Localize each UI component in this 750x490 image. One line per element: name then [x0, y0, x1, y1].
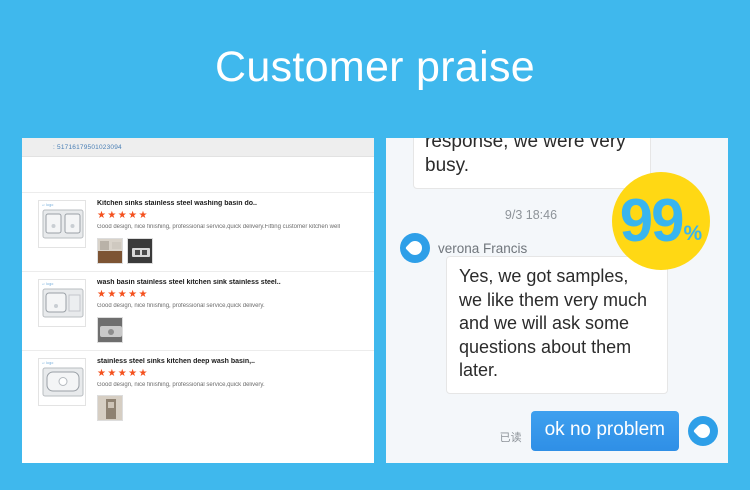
supplier-logo-icon: ▱ logo — [42, 361, 53, 365]
review-photo[interactable] — [97, 238, 123, 264]
sink-photo-icon — [98, 318, 123, 343]
star-rating: ★★★★★ — [97, 290, 362, 300]
message-bubble-clipped: response, we were very busy. — [413, 138, 651, 189]
single-sink-icon — [42, 288, 84, 318]
review-photo[interactable] — [97, 317, 123, 343]
review-text: Good design, nice finishing, professiona… — [97, 224, 362, 232]
reply-row: 已读 ok no problem — [500, 411, 718, 451]
sender-name: verona Francis — [438, 241, 527, 256]
review-text: Good design, nice finishing, professiona… — [97, 382, 362, 390]
badge-number: 99 — [620, 191, 683, 251]
review-title[interactable]: stainless steel sinks kitchen deep wash … — [97, 358, 362, 365]
review-photo-strip — [97, 238, 362, 264]
page-title: Customer praise — [0, 44, 750, 91]
star-rating: ★★★★★ — [97, 211, 362, 221]
review-photo-strip — [97, 317, 362, 343]
kitchen-photo-icon — [98, 239, 123, 264]
supplier-logo-icon: ▱ logo — [42, 282, 53, 286]
product-thumbnail[interactable]: ▱ logo — [38, 200, 86, 248]
badge-percent-sign: % — [684, 222, 703, 246]
review-title[interactable]: wash basin stainless steel kitchen sink … — [97, 279, 362, 286]
read-receipt: 已读 — [500, 429, 522, 445]
review-photo[interactable] — [97, 395, 123, 421]
message-bubble-incoming: Yes, we got samples, we like them very m… — [446, 256, 668, 394]
avatar — [688, 416, 718, 446]
order-id-bar: : 51716179501023094 — [22, 138, 374, 157]
panel-spacer — [22, 157, 374, 192]
star-rating: ★★★★★ — [97, 369, 362, 379]
review-body: stainless steel sinks kitchen deep wash … — [86, 356, 362, 422]
faucet-photo-icon — [98, 396, 123, 421]
message-bubble-outgoing: ok no problem — [531, 411, 679, 451]
review-text: Good design, nice finishing, professiona… — [97, 303, 362, 311]
deep-basin-icon — [42, 367, 84, 397]
review-body: Kitchen sinks stainless steel washing ba… — [86, 198, 362, 264]
review-body: wash basin stainless steel kitchen sink … — [86, 277, 362, 343]
review-row[interactable]: ▱ logo Kitchen sinks stainless steel was… — [22, 192, 374, 271]
sink-photo-icon — [128, 239, 153, 264]
order-id-text: : 51716179501023094 — [53, 144, 122, 151]
product-thumbnail[interactable]: ▱ logo — [38, 358, 86, 406]
review-title[interactable]: Kitchen sinks stainless steel washing ba… — [97, 200, 362, 207]
review-photo[interactable] — [127, 238, 153, 264]
review-photo-strip — [97, 395, 362, 421]
double-sink-icon — [42, 209, 84, 239]
supplier-logo-icon: ▱ logo — [42, 203, 53, 207]
review-row[interactable]: ▱ logo wash basin stainless steel kitche… — [22, 271, 374, 350]
product-thumbnail[interactable]: ▱ logo — [38, 279, 86, 327]
review-row[interactable]: ▱ logo stainless steel sinks kitchen dee… — [22, 350, 374, 429]
reviews-panel: : 51716179501023094 ▱ logo Kitchen sinks… — [22, 138, 374, 463]
avatar — [400, 233, 430, 263]
satisfaction-badge: 99 % — [612, 172, 710, 270]
